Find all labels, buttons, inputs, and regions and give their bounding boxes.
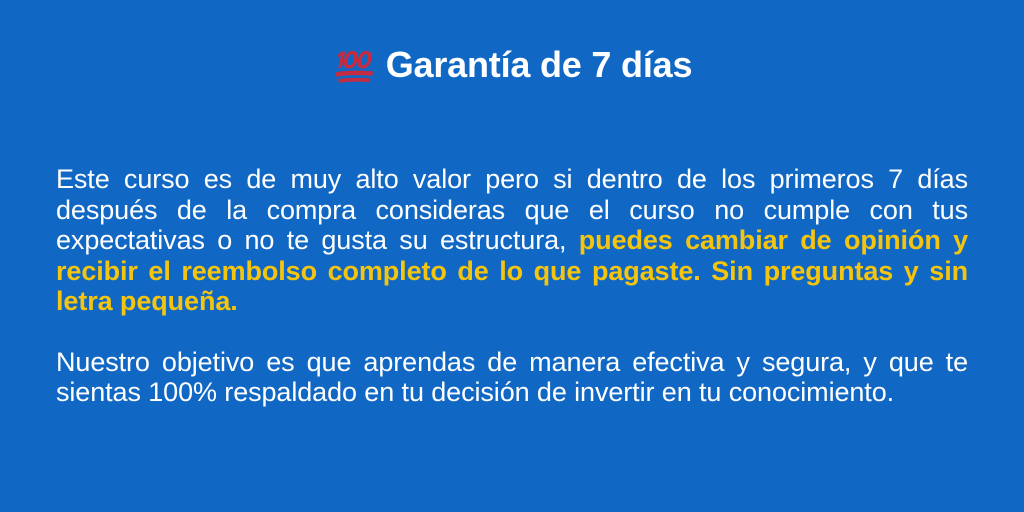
slide-header: Garantía de 7 días — [0, 44, 1024, 86]
guarantee-paragraph: Este curso es de muy alto valor pero si … — [56, 164, 968, 317]
slide-body: Este curso es de muy alto valor pero si … — [56, 164, 968, 408]
paragraph-run-normal: Nuestro objetivo es que aprendas de mane… — [56, 347, 968, 408]
page-title: Garantía de 7 días — [386, 44, 693, 86]
guarantee-slide: Garantía de 7 días Este curso es de muy … — [0, 0, 1024, 512]
objective-paragraph: Nuestro objetivo es que aprendas de mane… — [56, 347, 968, 408]
hundred-points-icon — [332, 48, 377, 84]
